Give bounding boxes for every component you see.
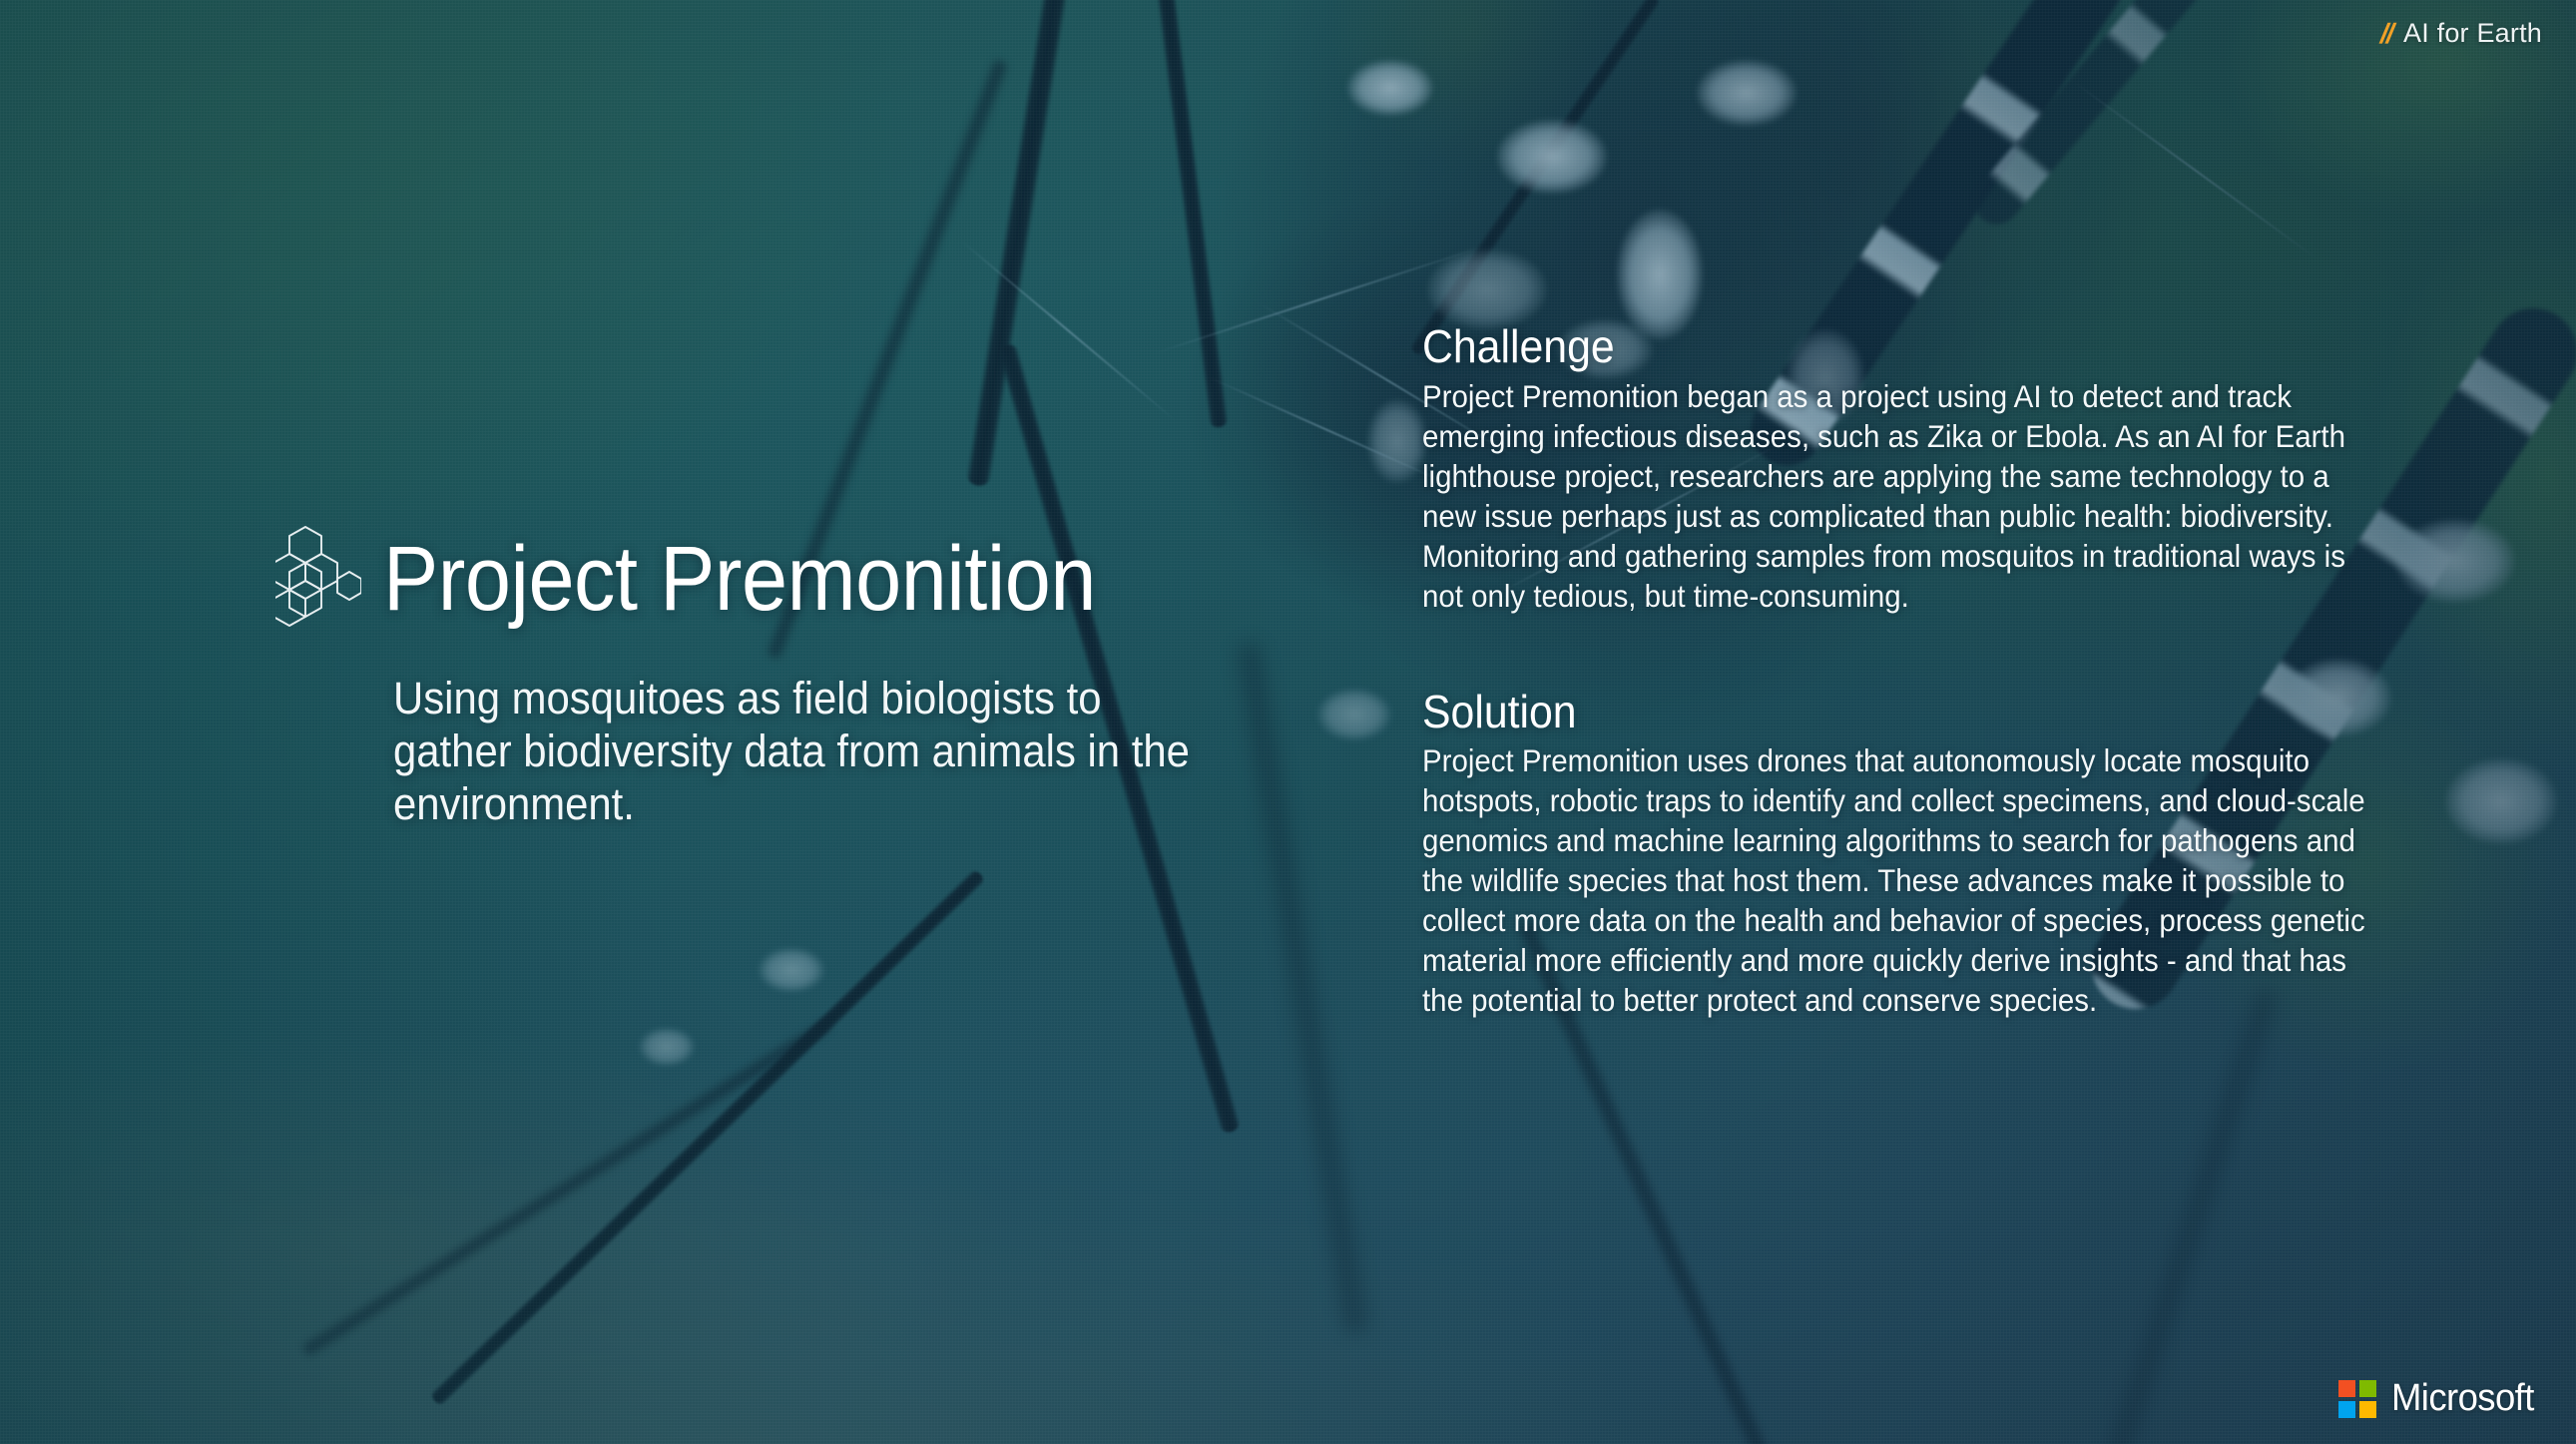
hexagon-molecule-icon (275, 525, 361, 638)
logo-square-blue (2338, 1401, 2355, 1418)
solution-heading: Solution (1422, 687, 2322, 737)
double-slash-icon: // (2380, 20, 2393, 48)
ai-for-earth-label: AI for Earth (2403, 18, 2542, 49)
solution-section: Solution Project Premonition uses drones… (1422, 687, 2390, 1021)
solution-body: Project Premonition uses drones that aut… (1422, 740, 2383, 1020)
microsoft-logo-icon (2338, 1380, 2376, 1418)
microsoft-wordmark: Microsoft (2391, 1377, 2534, 1420)
logo-square-green (2359, 1380, 2376, 1397)
logo-square-red (2338, 1380, 2355, 1397)
challenge-body: Project Premonition began as a project u… (1422, 376, 2383, 616)
page-subtitle: Using mosquitoes as field biologists to … (393, 672, 1201, 830)
challenge-heading: Challenge (1422, 321, 2322, 372)
presentation-slide: // AI for Earth Pro (0, 0, 2576, 1444)
challenge-section: Challenge Project Premonition began as a… (1422, 321, 2390, 616)
microsoft-logo: Microsoft (2338, 1377, 2540, 1420)
ai-for-earth-lockup: // AI for Earth (2380, 18, 2542, 49)
page-title: Project Premonition (383, 533, 1096, 625)
title-block: Project Premonition Using mosquitoes as … (275, 519, 1333, 830)
detail-columns: Challenge Project Premonition began as a… (1422, 321, 2390, 1020)
logo-square-yellow (2359, 1401, 2376, 1418)
